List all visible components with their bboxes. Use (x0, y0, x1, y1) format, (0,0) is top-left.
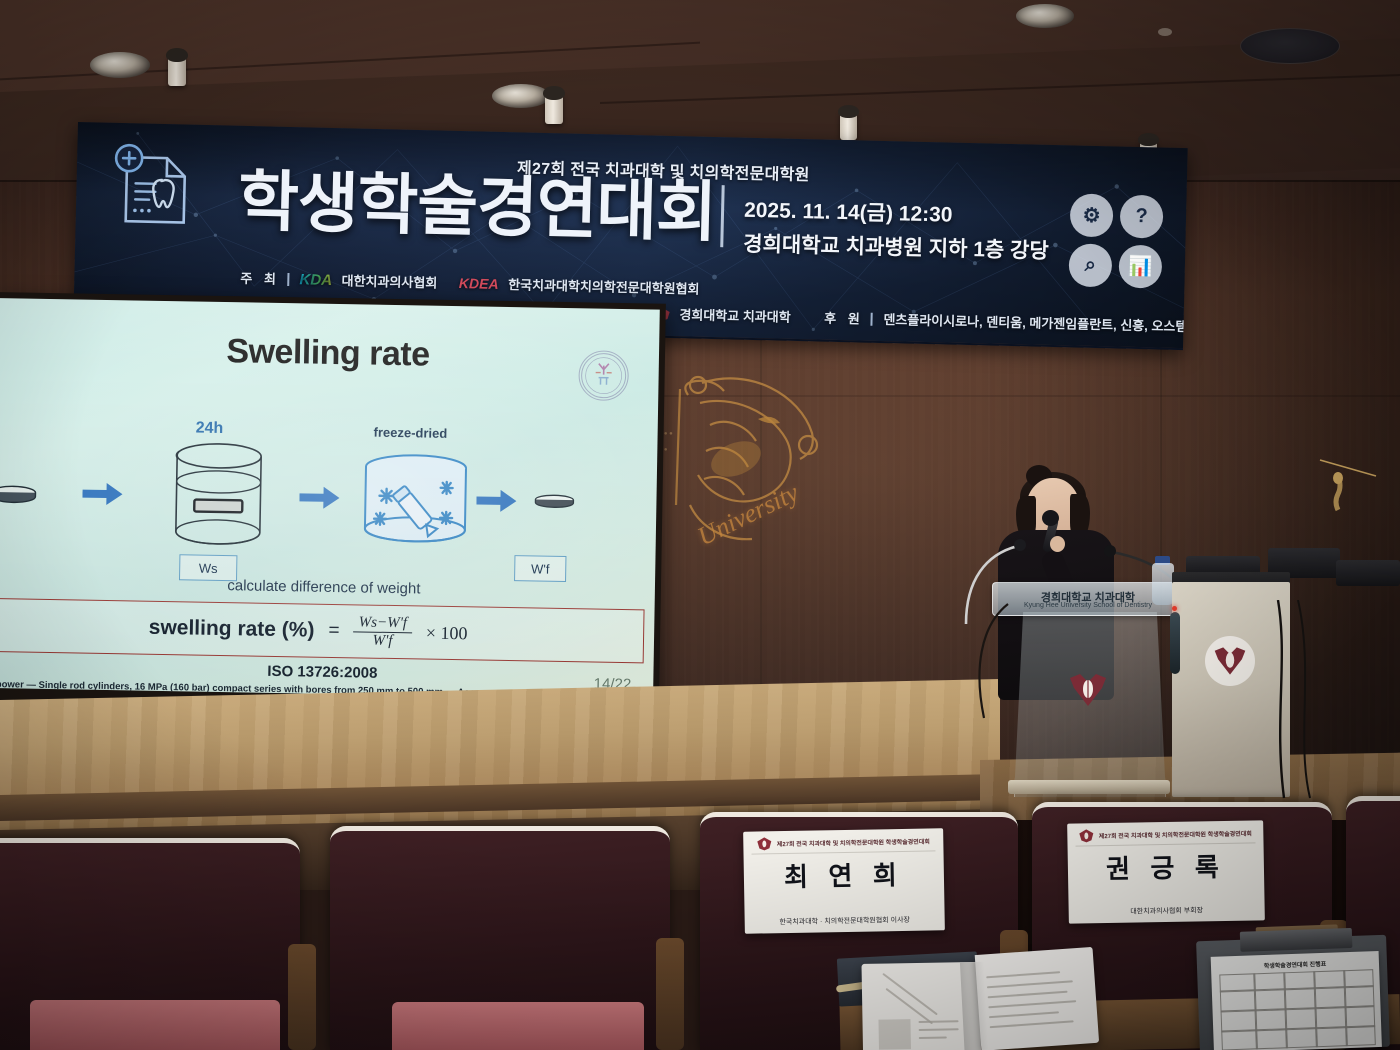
status-led-indicator (1172, 606, 1177, 611)
banner-host-label: 주 최 (240, 271, 280, 287)
presenter-hand (1050, 536, 1065, 552)
dried-disc-icon (532, 493, 576, 515)
ceiling-spotlight-head (166, 48, 188, 62)
seat-armrest (656, 938, 684, 1050)
ceiling-spotlight-head (838, 105, 859, 118)
dental-document-icon (103, 141, 203, 239)
formula-label: swelling rate (%) (149, 616, 315, 643)
name-placard-role: 대한치과의사협회 부회장 (1069, 904, 1265, 917)
formula-equals: = (328, 620, 339, 642)
ceiling-downlight (90, 52, 150, 78)
monitor-icon (1336, 560, 1400, 586)
university-seal-icon (578, 350, 629, 401)
seat-armrest (288, 944, 316, 1050)
ceiling-spotlight-head (543, 86, 565, 100)
kda-crest-icon (757, 836, 773, 851)
handheld-microphone-icon (1170, 612, 1180, 674)
seat-cushion (392, 1002, 644, 1050)
name-placard-name: 최 연 희 (744, 854, 945, 894)
ceiling-downlight (1016, 4, 1074, 28)
bar-chart-icon: 📊 (1118, 245, 1162, 289)
name-placard-event: 제27회 전국 치과대학 및 치의학전문대학원 학생학술경연대회 (1099, 828, 1252, 840)
banner-title: 학생학술경연대회 (237, 168, 716, 245)
specimen-disc-icon (0, 483, 39, 511)
arrow-right-icon (82, 483, 122, 506)
swelling-rate-formula: swelling rate (%) = Ws−W'f W'f × 100 (0, 598, 645, 664)
arrow-right-icon (299, 486, 339, 509)
formula-fraction: Ws−W'f W'f (353, 614, 412, 650)
name-placard-event: 제27회 전국 치과대학 및 치의학전문대학원 학생학술경연대회 (777, 836, 930, 848)
av-cables (1270, 600, 1400, 800)
slide-label-24h: 24h (195, 420, 223, 438)
slide-title: Swelling rate (0, 328, 659, 379)
podium-base (1008, 780, 1170, 794)
ceiling-downlight (492, 84, 550, 108)
microphone-head (1042, 510, 1059, 526)
ceiling-spotlight-head (1138, 133, 1159, 146)
booklet-gutter-shadow (960, 962, 989, 1050)
name-placard-header: 제27회 전국 치과대학 및 치의학전문대학원 학생학술경연대회 (1067, 825, 1263, 843)
gear-icon: ⚙ (1070, 193, 1114, 237)
kyung-hee-crest-icon (1066, 670, 1110, 710)
ceiling-vent (1158, 28, 1172, 36)
mic-cable (950, 600, 1020, 720)
name-placard: 제27회 전국 치과대학 및 치의학전문대학원 학생학술경연대회 최 연 희 한… (743, 828, 945, 933)
projected-slide: Swelling rate 24h freeze-dried (0, 298, 660, 699)
magnifier-icon: ⌕ (1068, 243, 1112, 287)
banner-icon-cluster: ⚙ ? ⌕ 📊 (1068, 193, 1168, 289)
lectern-podium: 경희대학교 치과대학 Kyung Hee University School o… (998, 582, 1176, 797)
formula-denominator: W'f (367, 632, 397, 650)
weight-box-wf: W'f (514, 555, 566, 582)
banner-host-kdea-name: 한국치과대학치의학전문대학원협회 (508, 277, 700, 297)
clipboard: 학생학술경연대회 진행표 (1196, 935, 1390, 1050)
kyung-hee-crest-icon (1205, 636, 1255, 686)
clipboard-clip (1240, 928, 1353, 952)
banner-organizer-name: 경희대학교 치과대학 (679, 307, 791, 325)
banner-sponsor-label: 후 원 (824, 311, 864, 327)
slide-label-freeze-dried: freeze-dried (373, 425, 447, 441)
open-booklet (860, 946, 1095, 1050)
name-placard-role: 한국치과대학 · 치의학전문대학원협회 이사장 (745, 914, 945, 927)
kda-crest-icon (1079, 828, 1095, 843)
conference-photo-scene: ● ● ● ● ●● ● ●● ● ● ●● ●● ● ●● ● Univers… (0, 0, 1400, 1050)
curtain-tassel (1310, 452, 1400, 562)
formula-tail: × 100 (426, 622, 468, 644)
name-placard-header: 제27회 전국 치과대학 및 치의학전문대학원 학생학술경연대회 (743, 833, 943, 851)
ceiling-speaker-grille (1240, 28, 1340, 64)
clipboard-paper: 학생학술경연대회 진행표 (1211, 951, 1382, 1050)
freeze-dryer-icon (360, 452, 472, 551)
projection-screen: Swelling rate 24h freeze-dried (0, 292, 666, 722)
name-placard-name: 권 긍 록 (1068, 846, 1265, 886)
formula-numerator: Ws−W'f (354, 614, 413, 633)
kda-logo-mark: KDA (299, 271, 332, 289)
arrow-right-icon (476, 489, 516, 512)
name-placard: 제27회 전국 치과대학 및 치의학전문대학원 학생학술경연대회 권 긍 록 대… (1067, 820, 1265, 923)
banner-datetime: 2025. 11. 14(금) 12:30 (744, 194, 953, 229)
water-bottle-icon (1152, 563, 1174, 605)
booklet-right-page (975, 947, 1099, 1050)
seat-cushion (30, 1000, 280, 1050)
kdea-logo-mark: KDEA (459, 275, 499, 292)
question-icon: ? (1120, 195, 1164, 239)
beaker-icon (172, 441, 266, 553)
banner-host-kda-name: 대한치과의사협회 (341, 273, 437, 290)
